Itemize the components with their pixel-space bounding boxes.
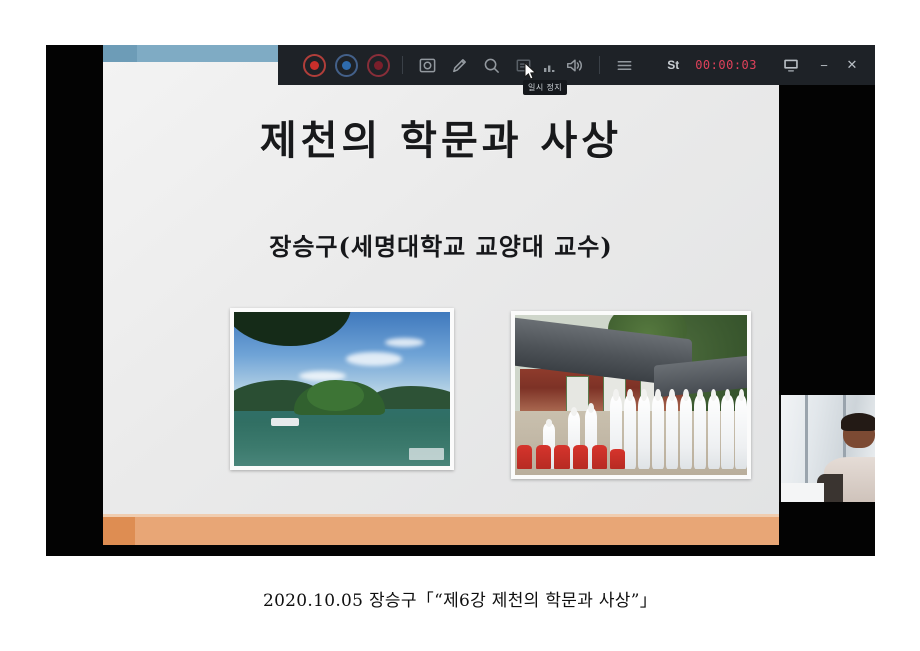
pen-button[interactable] (445, 51, 473, 79)
record-icon (303, 54, 326, 77)
figure-caption: 2020.10.05 장승구「“제6강 제천의 학문과 사상”」 (0, 586, 920, 611)
speaker-icon (565, 56, 585, 75)
video-recording-frame: 제천의 학문과 사상 장승구(세명대학교 교양대 교수) (46, 45, 875, 556)
crop-icon (514, 56, 533, 75)
screen-recorder-toolbar: St 00:00:03 − ✕ 일시 정지 (278, 45, 875, 85)
magnifier-icon (482, 56, 501, 75)
camera-icon (418, 56, 437, 75)
slide-title: 제천의 학문과 사상 (103, 108, 779, 166)
slide-bottom-band-accent (103, 517, 135, 545)
pause-button[interactable] (332, 51, 360, 79)
slide-photo-lake (230, 308, 454, 470)
ceremony-photo-content (515, 315, 747, 475)
lake-photo-content (234, 312, 450, 466)
screenshot-button[interactable] (413, 51, 441, 79)
close-button[interactable]: ✕ (843, 56, 861, 74)
stop-button[interactable] (364, 51, 392, 79)
levels-button[interactable] (541, 51, 557, 79)
zoom-button[interactable] (477, 51, 505, 79)
stop-icon (367, 54, 390, 77)
lake-photo-watermark (409, 448, 444, 460)
lake-cloud (346, 352, 402, 366)
presenter-desk (781, 483, 824, 502)
slide-photo-ceremony (511, 311, 751, 479)
recorder-tool-group (278, 51, 638, 79)
audio-button[interactable] (561, 51, 589, 79)
ceremony-participants-red (515, 395, 747, 469)
pencil-icon (450, 56, 469, 75)
slide-subtitle: 장승구(세명대학교 교양대 교수) (103, 227, 779, 262)
presentation-slide: 제천의 학문과 사상 장승구(세명대학교 교양대 교수) (103, 45, 779, 545)
slide-bottom-band (103, 517, 779, 545)
menu-button[interactable] (610, 51, 638, 79)
recorder-app-title: St (667, 58, 693, 72)
lake-boat (271, 418, 299, 426)
bars-icon (542, 57, 556, 73)
minimize-button[interactable]: − (815, 56, 833, 74)
record-button[interactable] (300, 51, 328, 79)
toolbar-divider (402, 56, 403, 74)
window-control-group: 00:00:03 − ✕ (695, 51, 875, 79)
hamburger-icon (615, 56, 634, 75)
recording-timer: 00:00:03 (695, 58, 757, 72)
lake-island-trees (307, 380, 363, 411)
presenter-hair (841, 413, 875, 431)
crop-button[interactable] (509, 51, 537, 79)
slide-top-band-accent (103, 45, 137, 62)
presenter-webcam-inset[interactable] (779, 395, 875, 502)
toolbar-divider (599, 56, 600, 74)
monitor-icon (782, 56, 800, 74)
display-button[interactable] (777, 51, 805, 79)
pause-icon (335, 54, 358, 77)
pause-button-tooltip: 일시 정지 (523, 80, 567, 95)
screenshot-page: 제천의 학문과 사상 장승구(세명대학교 교양대 교수) (0, 0, 920, 651)
